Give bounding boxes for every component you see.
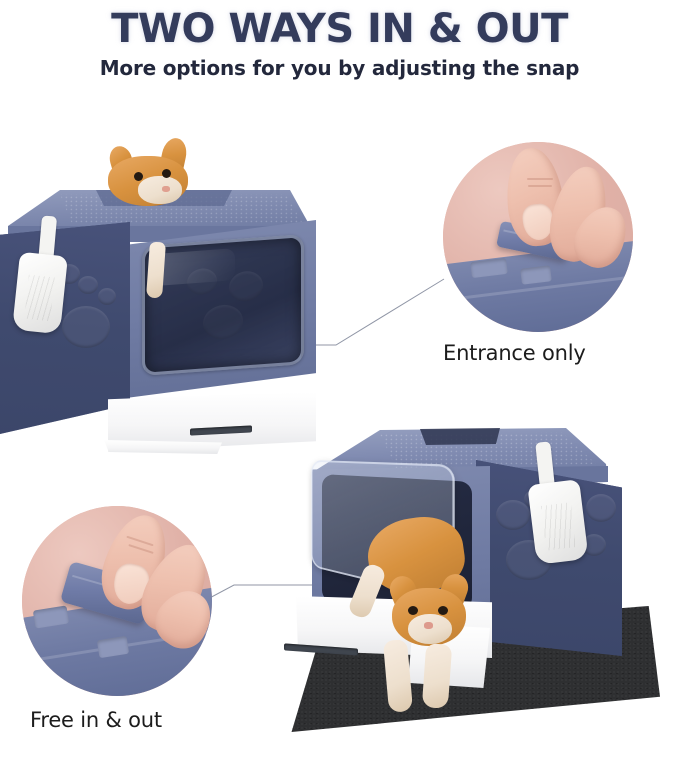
paw-emboss bbox=[98, 288, 116, 305]
transparent-door-window bbox=[142, 234, 304, 376]
paw-emboss-inner bbox=[187, 267, 217, 295]
cat-nose bbox=[424, 622, 433, 629]
paw-emboss-inner bbox=[229, 270, 263, 302]
knuckle-crease bbox=[528, 185, 552, 187]
cat-eye-right bbox=[438, 606, 448, 615]
cat-peeking bbox=[104, 138, 196, 204]
cat-eye-left bbox=[408, 606, 418, 615]
cat-second-leg bbox=[422, 643, 452, 709]
page-title: TWO WAYS IN & OUT bbox=[0, 6, 679, 52]
cat-front-leg bbox=[383, 639, 413, 713]
cat-muzzle bbox=[138, 176, 182, 204]
cat-eye-left bbox=[134, 172, 143, 181]
callout-entrance-only: Entrance only bbox=[443, 341, 586, 365]
snap-open-inset bbox=[22, 506, 212, 696]
cat-muzzle bbox=[408, 614, 452, 644]
knuckle-crease bbox=[527, 178, 553, 180]
page-subtitle: More options for you by adjusting the sn… bbox=[0, 56, 679, 80]
product-infographic: TWO WAYS IN & OUT More options for you b… bbox=[0, 0, 679, 772]
litter-scoop bbox=[12, 252, 68, 335]
paw-emboss-inner bbox=[203, 304, 243, 341]
cat-nose bbox=[162, 186, 170, 192]
paw-emboss bbox=[78, 276, 98, 294]
paw-emboss bbox=[586, 494, 616, 522]
paw-emboss bbox=[62, 306, 110, 348]
litter-box-entrance-only bbox=[0, 168, 316, 468]
cat-exiting bbox=[368, 518, 508, 714]
snap-closed-inset bbox=[443, 142, 633, 332]
litter-scoop bbox=[527, 479, 588, 565]
cat-eye-right bbox=[162, 169, 171, 178]
callout-free-in-out: Free in & out bbox=[30, 708, 162, 732]
